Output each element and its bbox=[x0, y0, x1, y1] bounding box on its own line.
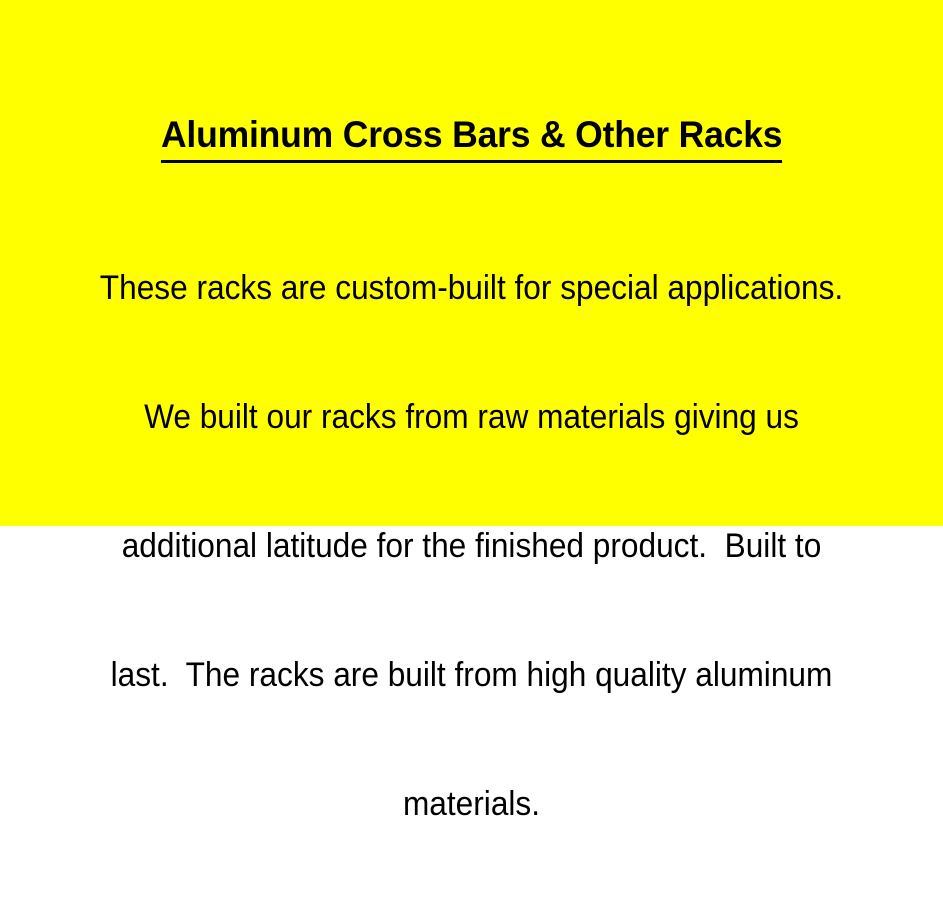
body-line: additional latitude for the finished pro… bbox=[57, 525, 886, 568]
body-line: We built our racks from raw materials gi… bbox=[57, 396, 886, 439]
page-title-text: Aluminum Cross Bars & Other Racks bbox=[161, 113, 782, 163]
slide-content-block: Aluminum Cross Bars & Other Racks These … bbox=[0, 113, 943, 912]
body-line: last. The racks are built from high qual… bbox=[57, 654, 886, 697]
body-line: These racks are custom-built for special… bbox=[57, 267, 886, 310]
body-line: materials. bbox=[57, 783, 886, 826]
slide-canvas: Aluminum Cross Bars & Other Racks These … bbox=[0, 0, 943, 526]
slide-body-paragraph: These racks are custom-built for special… bbox=[0, 163, 943, 912]
page-title: Aluminum Cross Bars & Other Racks bbox=[0, 113, 943, 163]
